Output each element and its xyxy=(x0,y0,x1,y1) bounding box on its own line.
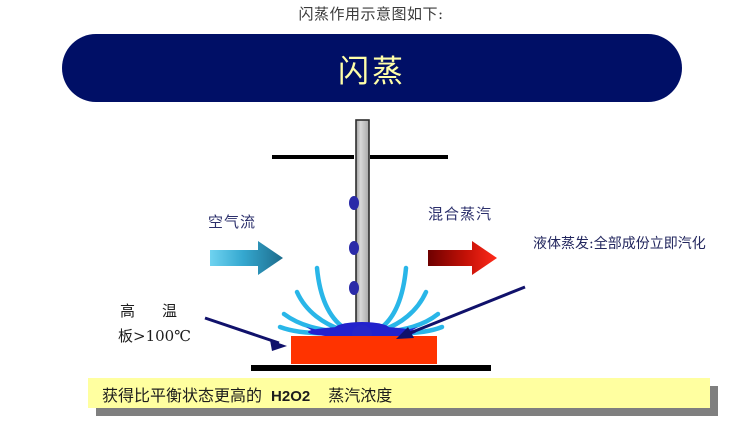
summary-chemical-formula: H2O2 xyxy=(271,388,310,405)
summary-banner: 获得比平衡状态更高的H2O2蒸汽浓度 xyxy=(88,378,710,408)
liquid-evaporation-label: 液体蒸发:全部成份立即汽化 xyxy=(533,233,706,253)
evaporation-pointer-icon xyxy=(396,287,525,339)
hot-plate-label-line2: 板>100℃ xyxy=(118,325,191,346)
mixed-vapor-arrow-icon xyxy=(428,241,497,275)
hot-plate-label-hot: 高 xyxy=(120,302,136,320)
spray-streams-left xyxy=(280,268,344,333)
title-banner: 闪蒸 xyxy=(62,34,682,102)
hot-plate xyxy=(291,336,437,364)
hot-plate-label-line1: 高温 xyxy=(120,300,178,321)
cross-bar-left xyxy=(272,155,354,159)
droplet-icon xyxy=(349,196,359,210)
summary-banner-text: 获得比平衡状态更高的H2O2蒸汽浓度 xyxy=(102,382,392,406)
summary-text-before: 获得比平衡状态更高的 xyxy=(102,386,262,405)
cross-bar-right xyxy=(370,155,448,159)
air-flow-label: 空气流 xyxy=(208,211,256,232)
slide-canvas: 闪蒸作用示意图如下: 闪蒸 xyxy=(0,0,742,430)
droplet-icon xyxy=(349,241,359,255)
droplet-icon xyxy=(349,281,359,295)
air-flow-arrow-icon xyxy=(210,241,283,275)
hot-plate-label-temp: 温 xyxy=(162,302,178,320)
spray-streams-right xyxy=(381,268,442,333)
summary-text-after: 蒸汽浓度 xyxy=(328,386,392,405)
base-line xyxy=(251,365,491,371)
title-banner-label: 闪蒸 xyxy=(62,34,682,102)
hot-plate-pointer-icon xyxy=(205,318,287,351)
splash-mound xyxy=(306,322,418,343)
page-title: 闪蒸作用示意图如下: xyxy=(0,3,742,24)
mixed-vapor-label: 混合蒸汽 xyxy=(428,203,492,224)
nozzle-tube xyxy=(356,120,369,332)
